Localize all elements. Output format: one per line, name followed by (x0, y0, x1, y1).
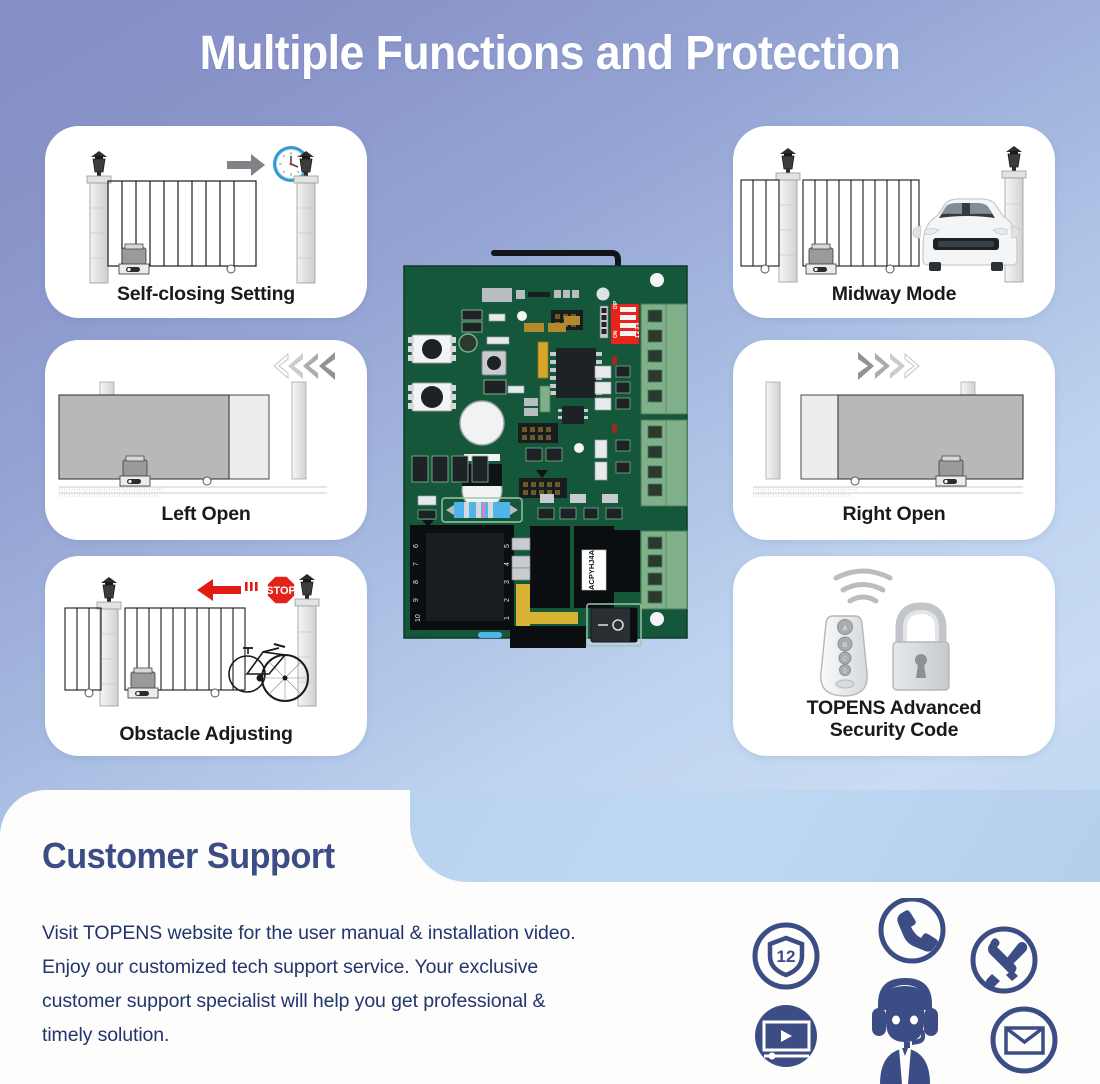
ic-chip-small (558, 406, 588, 424)
rocker-switch (587, 604, 641, 646)
body-line: customer support specialist will help yo… (42, 984, 732, 1018)
sliding-gate-icon (838, 395, 1023, 479)
chevrons-left-icon (274, 352, 335, 380)
tools-repair-icon (973, 929, 1035, 991)
car-icon (913, 199, 1019, 271)
gate-opener-icon (806, 244, 836, 274)
arrow-left-red-icon (197, 579, 258, 601)
body-line: Visit TOPENS website for the user manual… (42, 916, 732, 950)
component-label-tag: ACPYHJ4A (582, 549, 606, 590)
gate-opener-icon (119, 244, 149, 274)
push-button-small (482, 351, 506, 375)
feature-label: Midway Mode (733, 283, 1055, 306)
ground-texture: / / / / / / / / / / / / / / / / / / / / … (59, 487, 164, 498)
svg-text:B: B (843, 642, 847, 649)
component-label: ACPYHJ4A (587, 549, 596, 590)
support-icons-group: 12 (740, 898, 1070, 1084)
decorative-notch (410, 790, 1100, 882)
relay (610, 530, 640, 592)
svg-text:/ / / / / / / / / / / / / / /: / / / / / / / / / / / / / / / / / / / / … (59, 487, 164, 492)
smd-component (484, 380, 506, 394)
smd-pads (512, 538, 530, 580)
pin-label: 10 (415, 614, 422, 622)
svg-text:\ \ \ \ \ \ \ \ \ \ \ \ \ \ \: \ \ \ \ \ \ \ \ \ \ \ \ \ \ \ \ \ \ \ \ … (59, 493, 159, 498)
gate-post (766, 382, 780, 479)
control-board-svg: DIP ON 1 2 3 4 (398, 248, 698, 648)
pin-label: 9 (413, 598, 420, 602)
dip-positions: 1 2 3 4 (635, 322, 641, 338)
pin-label: 5 (504, 544, 511, 548)
terminal-block-upper (641, 304, 687, 414)
terminal-block-lower (641, 531, 687, 609)
relay (530, 526, 570, 608)
ic-chip (550, 348, 602, 398)
phone-support-icon (881, 899, 943, 961)
antenna-pad (597, 288, 610, 301)
black-component (510, 626, 586, 648)
pin-label: 7 (413, 562, 420, 566)
stop-sign-icon: STOP (266, 576, 296, 604)
smd-components (540, 494, 618, 503)
support-icons-svg: 12 (740, 898, 1070, 1084)
svg-text:\ \ \ \ \ \ \ \ \ \ \ \ \ \ \: \ \ \ \ \ \ \ \ \ \ \ \ \ \ \ \ \ \ \ \ … (753, 493, 853, 498)
customer-support-title: Customer Support (42, 835, 335, 877)
resistor-array (538, 342, 550, 412)
signal-waves-icon (836, 571, 890, 601)
mounting-hole (650, 612, 664, 626)
gate-opener-icon (120, 456, 150, 486)
padlock-icon (893, 608, 949, 690)
feature-label: Self-closing Setting (45, 283, 367, 306)
video-tutorial-icon (755, 1005, 817, 1067)
feature-card-security-code: A B C D (733, 556, 1055, 756)
capacitor (459, 334, 477, 352)
body-line: timely solution. (42, 1018, 732, 1052)
rf-module (482, 288, 512, 302)
push-button (408, 383, 456, 411)
pin-header (518, 423, 558, 443)
dip-switch: DIP ON 1 2 3 4 (600, 300, 641, 344)
feature-label: Left Open (45, 503, 367, 526)
pillar-lamp-icon (776, 148, 800, 282)
pin-label: 4 (504, 562, 511, 566)
feature-label: Right Open (733, 503, 1055, 526)
feature-card-left-open: / / / / / / / / / / / / / / / / / / / / … (45, 340, 367, 540)
electrolytic-capacitor (460, 401, 504, 445)
customer-support-body: Visit TOPENS website for the user manual… (42, 916, 732, 1052)
control-board: DIP ON 1 2 3 4 (398, 248, 698, 648)
svg-text:A: A (843, 626, 848, 633)
pin-label: 6 (413, 544, 420, 548)
pin-label: 3 (504, 580, 511, 584)
mounting-hole (517, 311, 527, 321)
chevrons-right-icon (858, 352, 919, 380)
headset-agent-icon (872, 978, 938, 1084)
gate-post (292, 382, 306, 479)
arrow-right-icon (227, 154, 265, 176)
feature-card-obstacle-adjusting: STOP (45, 556, 367, 756)
terminal-block-mid (641, 420, 687, 506)
mounting-hole (574, 443, 584, 453)
ground-texture: / / / / / / / / / / / / / / / / / / / / … (753, 487, 858, 498)
feature-card-self-closing-setting: Self-closing Setting (45, 126, 367, 318)
email-support-icon (993, 1009, 1055, 1071)
gate-icon (741, 180, 779, 266)
transformer: 6 7 8 9 10 5 4 3 2 1 (410, 525, 514, 630)
warranty-badge-text: 12 (777, 947, 796, 966)
remote-control-icon: A B C D (821, 616, 867, 696)
feature-label: Obstacle Adjusting (45, 723, 367, 746)
svg-text:C: C (843, 657, 847, 663)
pin-label: 1 (504, 616, 511, 620)
body-line: Enjoy our customized tech support servic… (42, 950, 732, 984)
feature-card-midway-mode: Midway Mode (733, 126, 1055, 318)
stop-sign-text: STOP (266, 585, 296, 597)
dip-on-label: ON (613, 330, 619, 338)
feature-card-right-open: / / / / / / / / / / / / / / / / / / / / … (733, 340, 1055, 540)
svg-text:/ / / / / / / / / / / / / / /: / / / / / / / / / / / / / / / / / / / / … (753, 487, 858, 492)
svg-text:D: D (843, 669, 847, 675)
shield-warranty-icon: 12 (755, 925, 817, 987)
blue-led (478, 632, 502, 638)
gate-opener-icon (128, 668, 158, 698)
bicycle-icon (229, 644, 308, 701)
feature-label-line1: TOPENS Advanced (733, 697, 1055, 720)
mounting-hole (650, 273, 664, 287)
page-title: Multiple Functions and Protection (39, 26, 1062, 81)
feature-label-line2: Security Code (733, 719, 1055, 742)
gate-opener-icon (936, 456, 966, 486)
push-button (408, 335, 456, 363)
pin-label: 8 (413, 580, 420, 584)
infographic-page: Multiple Functions and Protection (0, 0, 1100, 1084)
pin-label: 2 (504, 598, 511, 602)
dip-label: DIP (613, 300, 619, 309)
gate-icon (65, 608, 101, 690)
